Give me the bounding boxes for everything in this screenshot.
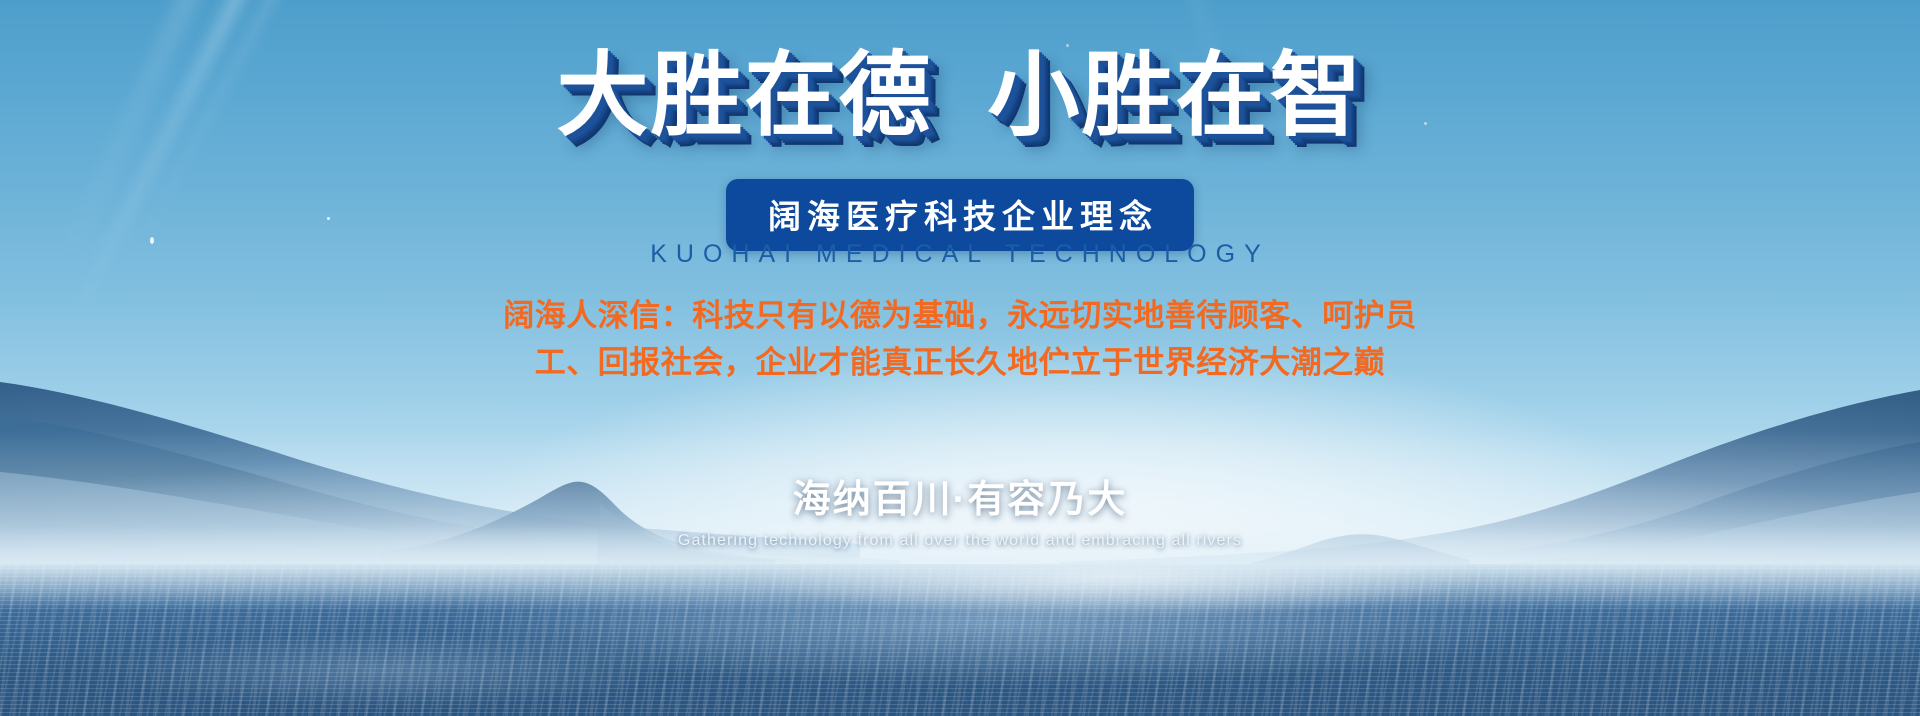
paragraph-line-2: 工、回报社会，企业才能真正长久地伫立于世界经济大潮之巅 xyxy=(460,339,1460,386)
footer-motto: 海纳百川·有容乃大 Gathering technology from all … xyxy=(0,468,1920,550)
footer-motto-english: Gathering technology from all over the w… xyxy=(0,532,1920,550)
paragraph-line-1: 阔海人深信：科技只有以德为基础，永远切实地善待顾客、呵护员 xyxy=(460,292,1460,339)
philosophy-paragraph: 阔海人深信：科技只有以德为基础，永远切实地善待顾客、呵护员 工、回报社会，企业才… xyxy=(460,292,1460,386)
page-title: 大胜在德 小胜在智 xyxy=(0,48,1920,145)
footer-motto-chinese: 海纳百川·有容乃大 xyxy=(0,468,1920,523)
corporate-philosophy-banner: 大胜在德 小胜在智 阔海医疗科技企业理念 KUOHAI MEDICAL TECH… xyxy=(0,0,1920,716)
banner-content: 大胜在德 小胜在智 阔海医疗科技企业理念 KUOHAI MEDICAL TECH… xyxy=(0,0,1920,716)
subtitle-english: KUOHAI MEDICAL TECHNOLOGY xyxy=(0,240,1920,269)
